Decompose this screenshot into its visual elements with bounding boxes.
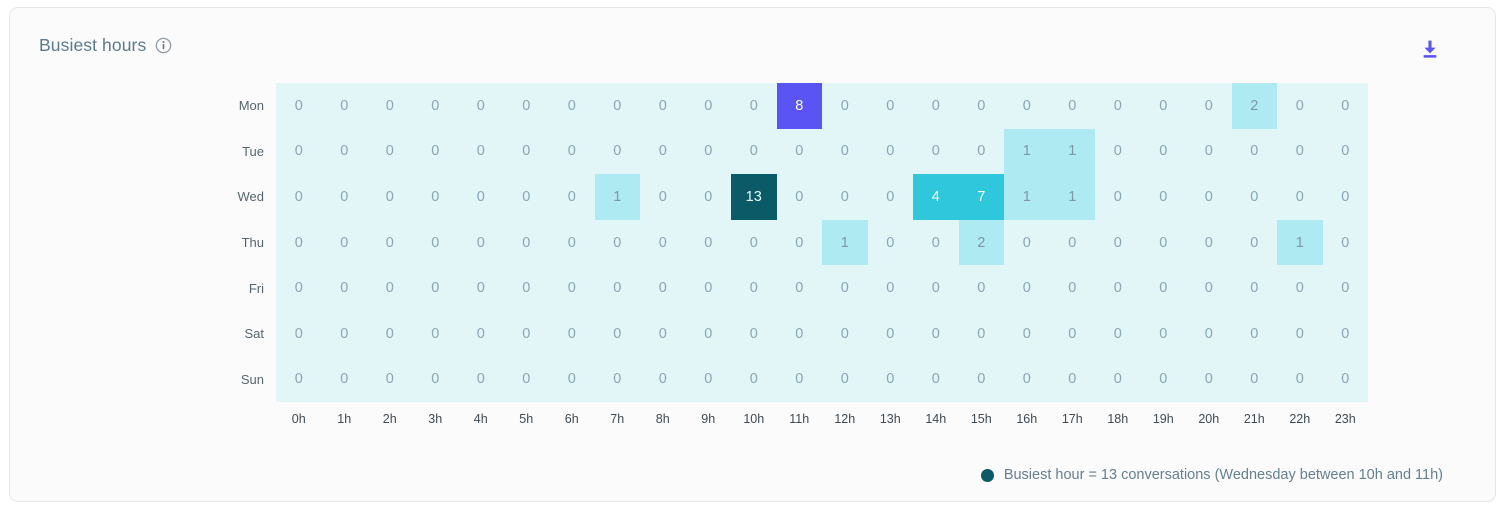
heatmap-cell[interactable]: 0 [322, 220, 368, 266]
heatmap-cell[interactable]: 0 [276, 357, 322, 403]
heatmap-cell-value: 1 [1023, 143, 1031, 159]
heatmap-cell[interactable]: 0 [777, 174, 823, 220]
heatmap-cell[interactable]: 0 [913, 220, 959, 266]
x-axis-tick: 21h [1232, 412, 1278, 426]
heatmap-cell-value: 0 [886, 189, 894, 205]
heatmap-cell-value: 0 [886, 235, 894, 251]
heatmap-cell-value: 0 [613, 98, 621, 114]
heatmap-cell[interactable]: 0 [276, 265, 322, 311]
heatmap-cell[interactable]: 0 [640, 265, 686, 311]
heatmap-cell-value: 0 [795, 280, 803, 296]
heatmap-cell[interactable]: 0 [549, 265, 595, 311]
heatmap-cell[interactable]: 1 [595, 174, 641, 220]
heatmap-row-cells: 000000000000000000000000 [276, 311, 1368, 357]
heatmap-cell[interactable]: 0 [458, 83, 504, 129]
heatmap-cell[interactable]: 0 [504, 311, 550, 357]
heatmap-cell[interactable]: 0 [504, 265, 550, 311]
heatmap-cell-value: 0 [386, 235, 394, 251]
heatmap-row-cells: 000000000000000000000000 [276, 265, 1368, 311]
heatmap-cell-value: 0 [841, 143, 849, 159]
heatmap-cell[interactable]: 0 [959, 311, 1005, 357]
heatmap-cell[interactable]: 0 [1095, 174, 1141, 220]
heatmap-cell[interactable]: 0 [777, 220, 823, 266]
heatmap-cell[interactable]: 0 [1004, 220, 1050, 266]
heatmap-cell[interactable]: 0 [549, 174, 595, 220]
heatmap-cell-value: 0 [295, 143, 303, 159]
heatmap-cell[interactable]: 0 [640, 311, 686, 357]
heatmap-cell-value: 0 [386, 280, 394, 296]
heatmap-cell-value: 1 [1296, 235, 1304, 251]
x-axis-tick: 15h [959, 412, 1005, 426]
heatmap-cell[interactable]: 0 [413, 311, 459, 357]
heatmap-cell[interactable]: 0 [913, 265, 959, 311]
heatmap-cell-value: 0 [977, 371, 985, 387]
heatmap-cell[interactable]: 0 [504, 357, 550, 403]
heatmap-cell[interactable]: 0 [686, 83, 732, 129]
heatmap-cell-value: 0 [568, 371, 576, 387]
heatmap-cell[interactable]: 0 [868, 357, 914, 403]
heatmap-cell[interactable]: 0 [1323, 174, 1369, 220]
heatmap-cell[interactable]: 0 [868, 174, 914, 220]
heatmap-cell[interactable]: 0 [868, 265, 914, 311]
heatmap-cell[interactable]: 0 [1004, 265, 1050, 311]
heatmap-cell[interactable]: 0 [322, 174, 368, 220]
heatmap-cell-value: 0 [795, 143, 803, 159]
heatmap-cell[interactable]: 0 [1323, 83, 1369, 129]
heatmap-cell[interactable]: 0 [686, 174, 732, 220]
heatmap-cell[interactable]: 0 [731, 265, 777, 311]
heatmap-cell[interactable]: 0 [822, 83, 868, 129]
heatmap-cell-value: 0 [659, 98, 667, 114]
heatmap-cell-value: 0 [704, 143, 712, 159]
x-axis-tick: 19h [1141, 412, 1187, 426]
heatmap-cell[interactable]: 0 [1186, 174, 1232, 220]
heatmap-cell[interactable]: 0 [367, 311, 413, 357]
heatmap-cell[interactable]: 0 [913, 129, 959, 175]
heatmap-cell-value: 0 [613, 143, 621, 159]
x-axis-tick: 3h [413, 412, 459, 426]
heatmap-cell[interactable]: 0 [1141, 311, 1187, 357]
heatmap-cell[interactable]: 0 [959, 83, 1005, 129]
heatmap-cell[interactable]: 0 [458, 129, 504, 175]
heatmap-cell[interactable]: 0 [1050, 311, 1096, 357]
heatmap-cell[interactable]: 0 [731, 357, 777, 403]
heatmap-cell[interactable]: 0 [731, 129, 777, 175]
heatmap-cell[interactable]: 0 [276, 83, 322, 129]
heatmap-cell[interactable]: 1 [1004, 129, 1050, 175]
heatmap-cell[interactable]: 0 [1232, 220, 1278, 266]
heatmap-cell[interactable]: 0 [1004, 357, 1050, 403]
heatmap-cell[interactable]: 0 [1050, 83, 1096, 129]
heatmap-cell[interactable]: 0 [276, 174, 322, 220]
x-axis-tick: 5h [504, 412, 550, 426]
heatmap-cell[interactable]: 0 [868, 220, 914, 266]
heatmap-cell[interactable]: 13 [731, 174, 777, 220]
heatmap-cell[interactable]: 0 [777, 265, 823, 311]
heatmap-cell-value: 0 [886, 326, 894, 342]
heatmap-cell[interactable]: 0 [777, 311, 823, 357]
heatmap-cell-value: 0 [477, 189, 485, 205]
heatmap-cell[interactable]: 0 [1186, 83, 1232, 129]
heatmap-cell[interactable]: 0 [549, 311, 595, 357]
heatmap-cell[interactable]: 0 [549, 357, 595, 403]
heatmap-cell[interactable]: 1 [1050, 129, 1096, 175]
heatmap-cell-value: 0 [477, 326, 485, 342]
x-axis-ticks: 0h1h2h3h4h5h6h7h8h9h10h11h12h13h14h15h16… [276, 412, 1368, 426]
heatmap-cell[interactable]: 0 [1095, 311, 1141, 357]
x-axis-tick: 9h [686, 412, 732, 426]
heatmap-cell[interactable]: 0 [367, 174, 413, 220]
heatmap-cell-value: 0 [431, 98, 439, 114]
heatmap-grid: Mon000000000008000000000200Tue0000000000… [222, 83, 1368, 402]
heatmap-cell-value: 0 [1250, 143, 1258, 159]
heatmap-cell[interactable]: 0 [913, 311, 959, 357]
heatmap-cell-value: 13 [746, 189, 762, 205]
heatmap-cell-value: 0 [1250, 235, 1258, 251]
heatmap-cell[interactable]: 0 [549, 83, 595, 129]
heatmap-cell[interactable]: 0 [413, 129, 459, 175]
heatmap-cell[interactable]: 0 [731, 311, 777, 357]
row-label-tue: Tue [222, 129, 276, 175]
heatmap-cell-value: 0 [340, 280, 348, 296]
heatmap-cell[interactable]: 0 [1095, 129, 1141, 175]
heatmap-cell[interactable]: 0 [504, 220, 550, 266]
heatmap-cell[interactable]: 0 [1186, 220, 1232, 266]
heatmap-cell[interactable]: 0 [686, 129, 732, 175]
heatmap-cell[interactable]: 0 [1095, 220, 1141, 266]
heatmap-cell[interactable]: 0 [458, 174, 504, 220]
heatmap-cell[interactable]: 0 [1323, 265, 1369, 311]
heatmap-cell[interactable]: 0 [1323, 357, 1369, 403]
heatmap-cell-value: 0 [795, 189, 803, 205]
heatmap-cell[interactable]: 0 [595, 311, 641, 357]
heatmap-cell[interactable]: 0 [959, 129, 1005, 175]
heatmap-cell[interactable]: 0 [595, 129, 641, 175]
heatmap-cell[interactable]: 0 [822, 174, 868, 220]
heatmap-cell[interactable]: 0 [322, 83, 368, 129]
heatmap-cell-value: 0 [295, 98, 303, 114]
heatmap-cell[interactable]: 0 [822, 129, 868, 175]
heatmap-cell-value: 0 [1205, 280, 1213, 296]
heatmap-cell[interactable]: 0 [1277, 311, 1323, 357]
heatmap-cell-value: 0 [1205, 326, 1213, 342]
heatmap-cell[interactable]: 0 [913, 357, 959, 403]
heatmap-cell-value: 0 [295, 326, 303, 342]
heatmap-cell[interactable]: 0 [686, 265, 732, 311]
heatmap-cell[interactable]: 0 [367, 129, 413, 175]
heatmap-cell[interactable]: 0 [549, 220, 595, 266]
heatmap-cell[interactable]: 0 [1141, 357, 1187, 403]
row-label-fri: Fri [222, 265, 276, 311]
heatmap-cell[interactable]: 0 [1232, 311, 1278, 357]
x-axis-tick: 6h [549, 412, 595, 426]
heatmap-cell-value: 0 [386, 189, 394, 205]
heatmap-cell-value: 0 [1296, 98, 1304, 114]
heatmap-cell-value: 0 [1341, 326, 1349, 342]
heatmap-cell[interactable]: 2 [1232, 83, 1278, 129]
heatmap-cell[interactable]: 0 [413, 265, 459, 311]
x-axis-tick: 23h [1323, 412, 1369, 426]
heatmap-cell-value: 2 [977, 235, 985, 251]
row-label-mon: Mon [222, 83, 276, 129]
heatmap-cell-value: 0 [977, 98, 985, 114]
heatmap-cell[interactable]: 0 [595, 220, 641, 266]
x-axis-tick: 20h [1186, 412, 1232, 426]
heatmap-cell[interactable]: 0 [1141, 174, 1187, 220]
heatmap-cell[interactable]: 0 [322, 265, 368, 311]
heatmap-cell[interactable]: 0 [640, 83, 686, 129]
heatmap-cell[interactable]: 0 [1095, 357, 1141, 403]
heatmap-cell-value: 0 [1023, 98, 1031, 114]
heatmap-cell-value: 0 [1341, 143, 1349, 159]
heatmap-cell[interactable]: 0 [1004, 83, 1050, 129]
heatmap-row: Sun000000000000000000000000 [222, 357, 1368, 403]
heatmap-cell-value: 0 [1341, 235, 1349, 251]
heatmap-cell-value: 0 [522, 98, 530, 114]
heatmap-cell[interactable]: 0 [1004, 311, 1050, 357]
heatmap-chart: Mon000000000008000000000200Tue0000000000… [10, 8, 1495, 501]
heatmap-cell[interactable]: 0 [686, 220, 732, 266]
heatmap-cell[interactable]: 0 [640, 357, 686, 403]
heatmap-cell[interactable]: 0 [1323, 311, 1369, 357]
heatmap-cell-value: 0 [1341, 189, 1349, 205]
heatmap-cell[interactable]: 0 [322, 129, 368, 175]
heatmap-cell[interactable]: 0 [458, 357, 504, 403]
heatmap-cell[interactable]: 0 [1050, 265, 1096, 311]
heatmap-cell-value: 0 [613, 235, 621, 251]
heatmap-cell-value: 0 [841, 371, 849, 387]
heatmap-cell[interactable]: 0 [367, 220, 413, 266]
heatmap-cell[interactable]: 8 [777, 83, 823, 129]
heatmap-cell-value: 0 [522, 280, 530, 296]
heatmap-cell[interactable]: 0 [1277, 357, 1323, 403]
legend-label: Busiest hour = 13 conversations (Wednesd… [1004, 467, 1443, 483]
heatmap-cell[interactable]: 0 [458, 311, 504, 357]
heatmap-cell[interactable]: 0 [1232, 174, 1278, 220]
heatmap-cell[interactable]: 0 [413, 357, 459, 403]
heatmap-cell-value: 0 [613, 326, 621, 342]
heatmap-cell-value: 0 [295, 280, 303, 296]
heatmap-cell[interactable]: 0 [1186, 129, 1232, 175]
x-axis-tick: 13h [868, 412, 914, 426]
heatmap-cell[interactable]: 0 [276, 220, 322, 266]
heatmap-cell[interactable]: 0 [1277, 174, 1323, 220]
heatmap-cell[interactable]: 0 [595, 83, 641, 129]
heatmap-cell-value: 0 [568, 143, 576, 159]
heatmap-cell[interactable]: 0 [777, 357, 823, 403]
x-axis-tick: 14h [913, 412, 959, 426]
heatmap-cell[interactable]: 0 [868, 129, 914, 175]
heatmap-cell-value: 0 [1296, 326, 1304, 342]
heatmap-cell-value: 0 [704, 280, 712, 296]
heatmap-cell[interactable]: 0 [322, 311, 368, 357]
heatmap-cell[interactable]: 0 [367, 83, 413, 129]
heatmap-row-cells: 0000000100130004711000000 [276, 174, 1368, 220]
heatmap-cell[interactable]: 0 [1277, 265, 1323, 311]
heatmap-cell[interactable]: 0 [1232, 129, 1278, 175]
heatmap-cell[interactable]: 0 [1141, 265, 1187, 311]
heatmap-cell[interactable]: 0 [1277, 83, 1323, 129]
heatmap-cell[interactable]: 0 [504, 83, 550, 129]
heatmap-cell[interactable]: 0 [1186, 357, 1232, 403]
heatmap-cell[interactable]: 0 [549, 129, 595, 175]
heatmap-cell-value: 0 [1114, 98, 1122, 114]
heatmap-cell-value: 0 [886, 143, 894, 159]
heatmap-cell-value: 1 [841, 235, 849, 251]
heatmap-cell[interactable]: 4 [913, 174, 959, 220]
heatmap-cell[interactable]: 0 [595, 357, 641, 403]
heatmap-cell-value: 0 [568, 98, 576, 114]
heatmap-cell[interactable]: 0 [1277, 129, 1323, 175]
heatmap-cell-value: 0 [386, 143, 394, 159]
heatmap-cell[interactable]: 0 [822, 265, 868, 311]
heatmap-cell-value: 0 [795, 326, 803, 342]
heatmap-cell[interactable]: 0 [1050, 357, 1096, 403]
heatmap-cell[interactable]: 0 [913, 83, 959, 129]
heatmap-row-cells: 000000000000000000000000 [276, 357, 1368, 403]
x-axis-tick: 7h [595, 412, 641, 426]
heatmap-cell-value: 0 [431, 235, 439, 251]
heatmap-cell-value: 0 [340, 371, 348, 387]
heatmap-cell-value: 0 [1068, 98, 1076, 114]
heatmap-cell[interactable]: 0 [1186, 265, 1232, 311]
legend-dot-icon [981, 469, 994, 482]
heatmap-cell-value: 7 [977, 189, 985, 205]
heatmap-cell[interactable]: 0 [1323, 129, 1369, 175]
heatmap-cell-value: 0 [886, 371, 894, 387]
heatmap-cell[interactable]: 0 [1323, 220, 1369, 266]
heatmap-cell[interactable]: 0 [1141, 83, 1187, 129]
heatmap-cell[interactable]: 0 [1141, 220, 1187, 266]
heatmap-cell[interactable]: 1 [822, 220, 868, 266]
heatmap-cell[interactable]: 0 [959, 265, 1005, 311]
heatmap-cell[interactable]: 0 [640, 220, 686, 266]
heatmap-cell-value: 0 [750, 98, 758, 114]
heatmap-cell[interactable]: 0 [1141, 129, 1187, 175]
x-axis-tick: 10h [731, 412, 777, 426]
heatmap-cell[interactable]: 0 [595, 265, 641, 311]
heatmap-cell[interactable]: 0 [868, 83, 914, 129]
heatmap-cell[interactable]: 0 [822, 357, 868, 403]
x-axis-tick: 18h [1095, 412, 1141, 426]
heatmap-cell-value: 0 [1341, 371, 1349, 387]
heatmap-cell[interactable]: 0 [276, 129, 322, 175]
heatmap-cell-value: 0 [522, 189, 530, 205]
heatmap-cell-value: 0 [1296, 280, 1304, 296]
heatmap-cell[interactable]: 0 [1050, 220, 1096, 266]
heatmap-cell-value: 0 [1205, 371, 1213, 387]
heatmap-cell[interactable]: 0 [458, 220, 504, 266]
heatmap-cell-value: 0 [1114, 280, 1122, 296]
heatmap-cell-value: 0 [1250, 326, 1258, 342]
heatmap-cell[interactable]: 0 [1095, 83, 1141, 129]
heatmap-cell-value: 0 [750, 371, 758, 387]
heatmap-cell-value: 0 [386, 371, 394, 387]
heatmap-row: Mon000000000008000000000200 [222, 83, 1368, 129]
x-axis-tick: 0h [276, 412, 322, 426]
heatmap-cell[interactable]: 1 [1277, 220, 1323, 266]
heatmap-cell-value: 0 [1114, 143, 1122, 159]
heatmap-cell-value: 0 [431, 143, 439, 159]
heatmap-cell[interactable]: 0 [1186, 311, 1232, 357]
heatmap-cell[interactable]: 0 [504, 174, 550, 220]
heatmap-cell[interactable]: 0 [413, 220, 459, 266]
heatmap-row: Tue000000000000000011000000 [222, 129, 1368, 175]
heatmap-cell-value: 0 [750, 326, 758, 342]
heatmap-cell-value: 0 [1205, 98, 1213, 114]
heatmap-cell[interactable]: 1 [1004, 174, 1050, 220]
heatmap-cell[interactable]: 1 [1050, 174, 1096, 220]
heatmap-cell[interactable]: 0 [367, 265, 413, 311]
heatmap-cell[interactable]: 0 [640, 129, 686, 175]
heatmap-cell[interactable]: 0 [458, 265, 504, 311]
heatmap-cell[interactable]: 0 [1232, 357, 1278, 403]
heatmap-cell[interactable]: 0 [322, 357, 368, 403]
heatmap-cell[interactable]: 0 [1095, 265, 1141, 311]
heatmap-cell-value: 0 [522, 143, 530, 159]
heatmap-cell[interactable]: 0 [504, 129, 550, 175]
heatmap-cell[interactable]: 0 [959, 357, 1005, 403]
row-label-sun: Sun [222, 357, 276, 403]
heatmap-cell-value: 0 [477, 371, 485, 387]
heatmap-cell-value: 0 [1159, 371, 1167, 387]
heatmap-cell[interactable]: 0 [686, 311, 732, 357]
heatmap-cell[interactable]: 0 [868, 311, 914, 357]
heatmap-cell-value: 0 [932, 280, 940, 296]
x-axis-tick: 17h [1050, 412, 1096, 426]
heatmap-cell-value: 0 [795, 371, 803, 387]
row-label-wed: Wed [222, 174, 276, 220]
heatmap-cell[interactable]: 0 [640, 174, 686, 220]
heatmap-cell[interactable]: 0 [1232, 265, 1278, 311]
heatmap-cell-value: 0 [568, 280, 576, 296]
heatmap-cell-value: 4 [932, 189, 940, 205]
heatmap-cell[interactable]: 2 [959, 220, 1005, 266]
heatmap-cell[interactable]: 0 [731, 83, 777, 129]
heatmap-cell-value: 0 [522, 326, 530, 342]
x-axis-tick: 2h [367, 412, 413, 426]
heatmap-cell-value: 0 [340, 326, 348, 342]
heatmap-cell-value: 0 [477, 98, 485, 114]
x-axis-tick: 12h [822, 412, 868, 426]
heatmap-cell[interactable]: 0 [731, 220, 777, 266]
heatmap-cell-value: 0 [1023, 235, 1031, 251]
heatmap-cell-value: 0 [1159, 143, 1167, 159]
x-axis-tick: 8h [640, 412, 686, 426]
heatmap-cell[interactable]: 0 [777, 129, 823, 175]
heatmap-cell-value: 8 [795, 98, 803, 114]
heatmap-cell-value: 0 [795, 235, 803, 251]
heatmap-cell-value: 0 [1159, 280, 1167, 296]
heatmap-cell-value: 0 [659, 280, 667, 296]
x-axis-tick: 11h [777, 412, 823, 426]
heatmap-cell[interactable]: 0 [822, 311, 868, 357]
heatmap-cell[interactable]: 0 [367, 357, 413, 403]
heatmap-cell-value: 0 [1068, 280, 1076, 296]
heatmap-row: Fri000000000000000000000000 [222, 265, 1368, 311]
heatmap-cell[interactable]: 0 [686, 357, 732, 403]
heatmap-cell[interactable]: 0 [413, 174, 459, 220]
heatmap-cell-value: 1 [1023, 189, 1031, 205]
heatmap-cell[interactable]: 0 [413, 83, 459, 129]
heatmap-cell-value: 0 [1114, 326, 1122, 342]
heatmap-cell-value: 1 [1068, 189, 1076, 205]
heatmap-cell-value: 0 [522, 235, 530, 251]
heatmap-cell-value: 0 [1114, 189, 1122, 205]
heatmap-cell[interactable]: 7 [959, 174, 1005, 220]
heatmap-cell[interactable]: 0 [276, 311, 322, 357]
heatmap-cell-value: 0 [1205, 143, 1213, 159]
